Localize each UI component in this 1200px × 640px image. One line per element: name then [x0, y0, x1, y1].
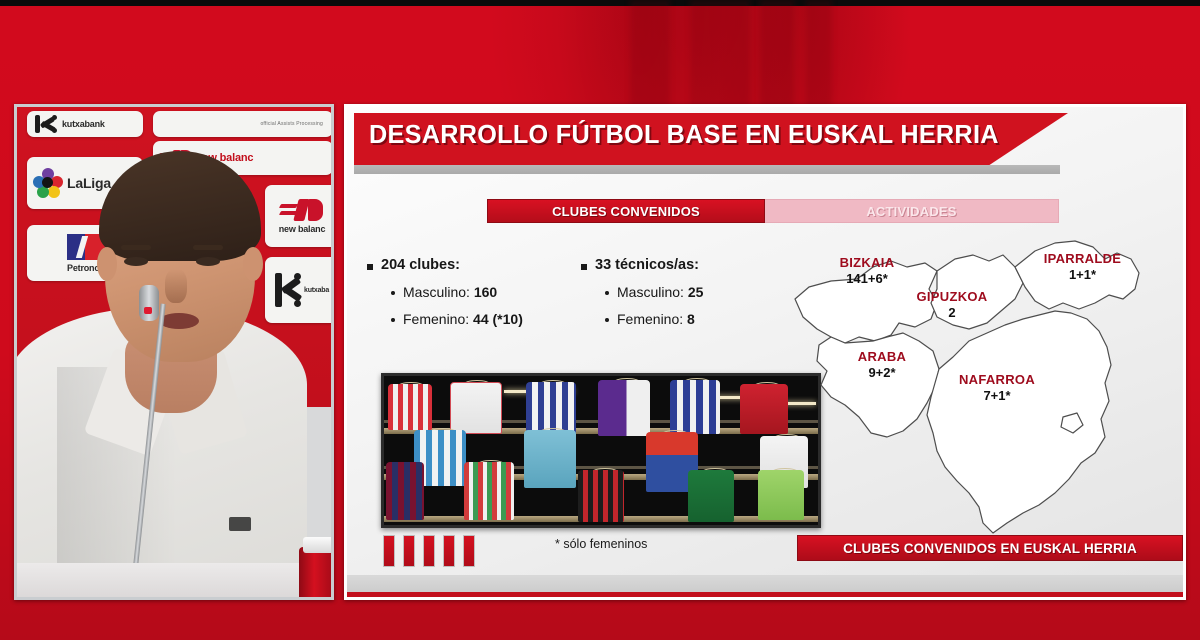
- map-region-name: NAFARROA: [937, 372, 1057, 387]
- speaker-nose: [165, 269, 187, 303]
- sponsor-label: LaLiga: [67, 175, 111, 191]
- speaker-brow-left: [121, 245, 151, 250]
- tab-actividades[interactable]: ACTIVIDADES: [765, 199, 1059, 223]
- clubs-male-value: 160: [474, 284, 497, 300]
- map-region-value: 141+6*: [812, 271, 922, 286]
- map-region-value: 1+1*: [1025, 267, 1140, 282]
- clubs-male-item: Masculino: 160: [391, 284, 573, 300]
- coaches-heading: 33 técnicos/as:: [581, 257, 787, 273]
- press-table: [17, 563, 331, 597]
- title-underbar: [354, 165, 1060, 174]
- map-label-gipuzkoa: GIPUZKOA 2: [897, 289, 1007, 320]
- clubs-column: 204 clubes: Masculino: 160 Femenino: 44 …: [367, 257, 573, 338]
- dot-bullet-icon: [605, 291, 609, 295]
- microphone-indicator: [144, 307, 152, 314]
- euskal-herria-map: BIZKAIA 141+6* GIPUZKOA 2 IPARRALDE 1+1*…: [787, 237, 1183, 567]
- map-region-value: 7+1*: [937, 388, 1057, 403]
- press-conference-video: kutxabank LaLiga Pe: [14, 104, 334, 600]
- map-region-name: IPARRALDE: [1025, 251, 1140, 266]
- tab-bar: CLUBES CONVENIDOS ACTIVIDADES: [487, 199, 1059, 223]
- water-bottle: [299, 547, 331, 597]
- square-bullet-icon: [581, 264, 587, 270]
- map-region-name: BIZKAIA: [812, 255, 922, 270]
- map-region-value: 2: [897, 305, 1007, 320]
- speaker-eye-right: [196, 257, 220, 266]
- map-region-value: 9+2*: [827, 365, 937, 380]
- video-frame: kutxabank LaLiga Pe: [17, 107, 331, 597]
- coaches-male-item: Masculino: 25: [605, 284, 787, 300]
- clubs-female-value: 44 (*10): [473, 311, 523, 327]
- map-label-nafarroa: NAFARROA 7+1*: [937, 372, 1057, 403]
- bottom-banner: CLUBES CONVENIDOS EN EUSKAL HERRIA: [797, 535, 1183, 561]
- coaches-male-value: 25: [688, 284, 704, 300]
- tab-clubes-convenidos[interactable]: CLUBES CONVENIDOS: [487, 199, 765, 223]
- sponsor-label: kutxabank: [62, 119, 105, 129]
- page-title: DESARROLLO FÚTBOL BASE EN EUSKAL HERRIA: [369, 119, 999, 150]
- stats-bullets: 204 clubes: Masculino: 160 Femenino: 44 …: [367, 257, 787, 338]
- speaker-ear-left: [97, 247, 117, 281]
- map-region-name: GIPUZKOA: [897, 289, 1007, 304]
- square-bullet-icon: [367, 264, 373, 270]
- map-region-name: ARABA: [827, 349, 937, 364]
- sponsor-label: new balanc: [279, 224, 326, 234]
- clubs-heading-label: 204 clubes:: [381, 257, 460, 273]
- clubs-female-item: Femenino: 44 (*10): [391, 311, 573, 327]
- microphone-head: [139, 285, 159, 321]
- speaker-ear-right: [243, 247, 263, 281]
- jerseys-photo: [381, 373, 821, 528]
- sponsor-logo-kutxabank-bottom: kutxaba: [265, 257, 331, 323]
- coaches-male-label: Masculino:: [617, 284, 688, 300]
- dot-bullet-icon: [391, 291, 395, 295]
- speaker-eye-left: [124, 257, 148, 266]
- map-nafarroa: [927, 311, 1111, 533]
- coaches-column: 33 técnicos/as: Masculino: 25 Femenino: …: [581, 257, 787, 338]
- map-label-bizkaia: BIZKAIA 141+6*: [812, 255, 922, 286]
- decorative-bar: [383, 535, 395, 567]
- map-label-iparralde: IPARRALDE 1+1*: [1025, 251, 1140, 282]
- clubs-heading: 204 clubes:: [367, 257, 573, 273]
- broadcast-frame: kutxabank LaLiga Pe: [0, 0, 1200, 640]
- coaches-female-value: 8: [687, 311, 695, 327]
- presentation-slide: DESARROLLO FÚTBOL BASE EN EUSKAL HERRIA …: [344, 104, 1186, 600]
- sponsor-label: official Assists Processing: [260, 121, 323, 127]
- decorative-bar: [463, 535, 475, 567]
- coaches-heading-label: 33 técnicos/as:: [595, 257, 699, 273]
- decorative-bar: [423, 535, 435, 567]
- sponsor-logo-new-balance-mid: new balanc: [265, 185, 331, 247]
- decorative-bar: [403, 535, 415, 567]
- decorative-bars: [383, 535, 475, 567]
- dot-bullet-icon: [605, 318, 609, 322]
- decorative-bar: [443, 535, 455, 567]
- dot-bullet-icon: [391, 318, 395, 322]
- slide-content: DESARROLLO FÚTBOL BASE EN EUSKAL HERRIA …: [347, 107, 1183, 597]
- sponsor-label: kutxaba: [304, 287, 329, 294]
- bottle-cap: [303, 537, 331, 553]
- speaker-mouth: [159, 313, 199, 329]
- sponsor-logo-official-partner: official Assists Processing: [153, 111, 331, 137]
- clubs-male-label: Masculino:: [403, 284, 474, 300]
- footnote: * sólo femeninos: [555, 537, 647, 551]
- coaches-female-item: Femenino: 8: [605, 311, 787, 327]
- coaches-female-label: Femenino:: [617, 311, 687, 327]
- sponsor-logo-kutxabank-top: kutxabank: [27, 111, 143, 137]
- map-label-araba: ARABA 9+2*: [827, 349, 937, 380]
- clubs-female-label: Femenino:: [403, 311, 473, 327]
- speaker-brow-right: [193, 245, 223, 250]
- bottom-red-edge: [347, 592, 1183, 597]
- shirt-badge: [229, 517, 251, 531]
